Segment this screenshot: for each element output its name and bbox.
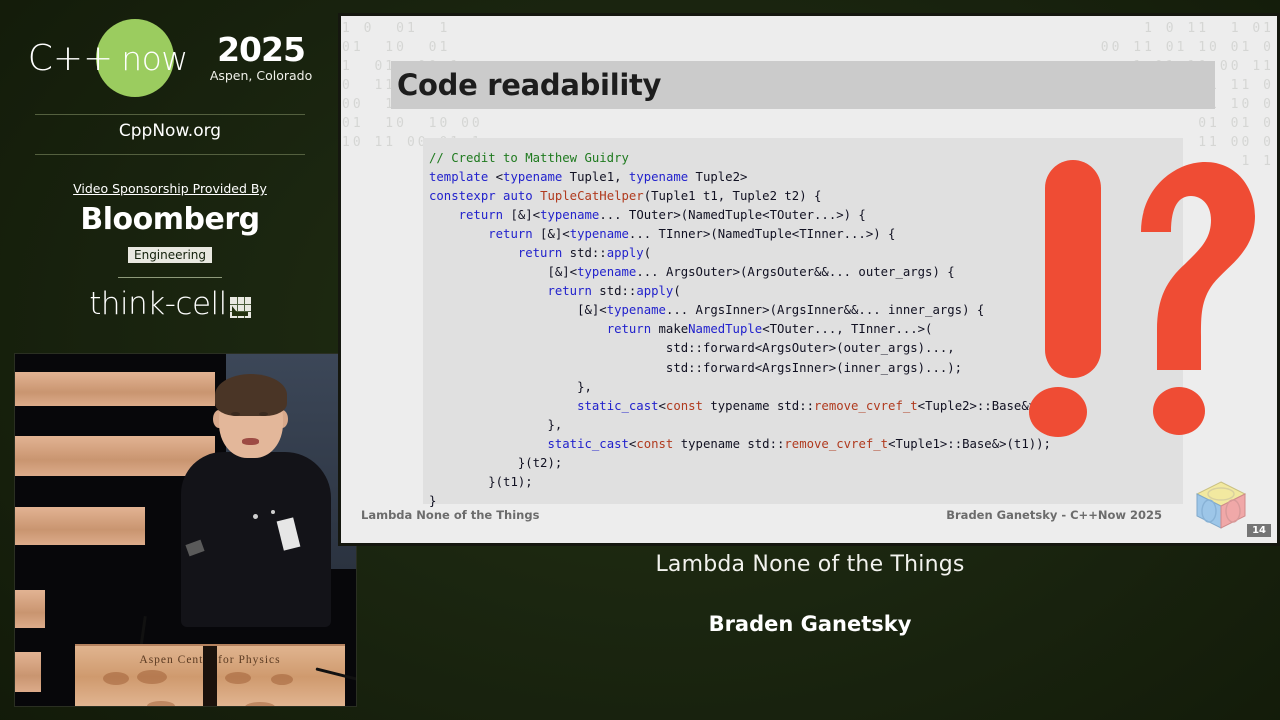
video-player-frame: C++ now 2025 Aspen, Colorado CppNow.org … — [0, 0, 1280, 720]
shirt-dot — [253, 514, 258, 519]
thinkcell-wordmark: think-cell — [89, 286, 227, 322]
conference-location: Aspen, Colorado — [210, 68, 312, 83]
site-url[interactable]: CppNow.org — [0, 121, 340, 141]
slide-title: Code readability — [397, 68, 661, 102]
speaker-eye-right — [259, 412, 268, 416]
slide-footer-talk-title: Lambda None of the Things — [361, 508, 539, 522]
podium-split — [203, 646, 217, 707]
wall-plank — [15, 507, 145, 545]
thinkcell-chart-icon — [230, 297, 251, 318]
question-mark-annotation — [1131, 160, 1257, 382]
exclamation-dot-annotation — [1029, 387, 1087, 437]
presentation-slide: 1 0 01 1 01 10 01 1 01 00 1 0 11 11 00 1… — [338, 13, 1280, 546]
cppnow-logo: C++ now 2025 Aspen, Colorado — [0, 18, 340, 98]
caption-talk-title: Lambda None of the Things — [360, 552, 1260, 577]
thinkcell-logo: think-cell — [0, 286, 340, 322]
talk-caption: Lambda None of the Things Braden Ganetsk… — [360, 552, 1260, 636]
cppnow-cpp-text: C++ — [28, 38, 113, 79]
wall-plank — [15, 590, 45, 628]
sponsor-label: Video Sponsorship Provided By — [0, 181, 340, 196]
slide-footer-attribution: Braden Ganetsky - C++Now 2025 — [946, 508, 1162, 522]
shirt-dot — [271, 510, 275, 514]
bloomberg-logo: Bloomberg — [0, 202, 340, 237]
speaker-mouth — [242, 438, 259, 445]
exclamation-mark-annotation — [1045, 160, 1101, 378]
speaker-torso — [181, 452, 331, 627]
conference-year-block: 2025 Aspen, Colorado — [210, 33, 312, 83]
divider-bottom — [35, 154, 305, 155]
speaker-hair — [215, 374, 287, 416]
speaker-video-feed[interactable]: Aspen Center for Physics — [14, 353, 357, 707]
divider-thinkcell — [118, 277, 222, 278]
conference-year: 2025 — [210, 33, 312, 66]
question-dot-annotation — [1153, 387, 1205, 435]
podium: Aspen Center for Physics — [75, 644, 345, 707]
wall-plank — [15, 652, 41, 692]
divider-top — [35, 114, 305, 115]
boost-cube-icon — [1193, 479, 1249, 531]
speaker-eye-left — [231, 412, 240, 416]
caption-speaker-name: Braden Ganetsky — [360, 612, 1260, 636]
sponsor-sidebar: C++ now 2025 Aspen, Colorado CppNow.org … — [0, 0, 340, 720]
cppnow-wordmark: C++ now 2025 Aspen, Colorado — [28, 33, 313, 83]
bloomberg-engineering-tag: Engineering — [128, 247, 212, 263]
slide-number-badge: 14 — [1247, 524, 1271, 537]
cppnow-now-text: now — [121, 39, 188, 78]
